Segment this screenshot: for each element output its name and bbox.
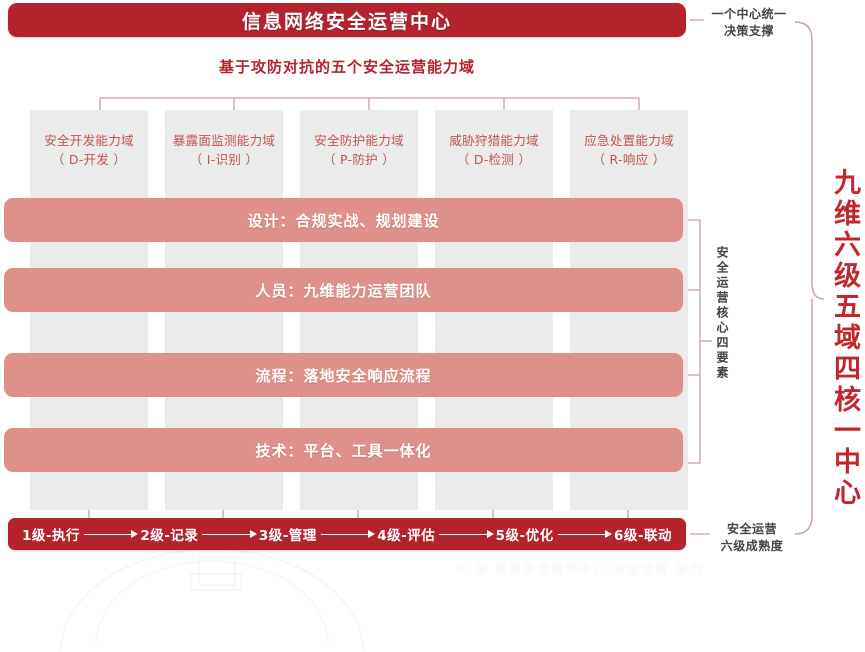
outer-bracket-upper — [795, 22, 824, 299]
core-element-label-design: 设计：合规实战、规划建设 — [247, 210, 439, 231]
capability-column-4-label: 威胁狩猎能力域 （ D-检测 ） — [435, 132, 553, 170]
maturity-arrow-3 — [319, 529, 375, 539]
watermark-arc-inner — [95, 560, 329, 644]
capability-column-5-code: （ R-响应 ） — [570, 151, 688, 170]
annotation-bottom-right-line2: 六级成熟度 — [712, 538, 792, 555]
annotation-bottom-right-line1: 安全运营 — [712, 521, 792, 538]
subtitle: 基于攻防对抗的五个安全运营能力域 — [8, 56, 686, 77]
main-title-bar: 信息网络安全运营中心 — [8, 3, 686, 37]
capability-column-5-name: 应急处置能力域 — [584, 133, 674, 148]
core-element-label-people: 人员：九维能力运营团队 — [255, 280, 431, 301]
core-element-bar-people[interactable]: 人员：九维能力运营团队 — [4, 268, 683, 312]
capability-column-2-name: 暴露面监测能力域 — [173, 133, 275, 148]
capability-column-1-code: （ D-开发 ） — [30, 151, 148, 170]
maturity-level-4[interactable]: 4级-评估 — [377, 524, 435, 544]
watermark-box — [198, 556, 236, 586]
core-element-bar-process[interactable]: 流程：落地安全响应流程 — [4, 353, 683, 397]
maturity-level-1[interactable]: 1级-执行 — [22, 524, 80, 544]
maturity-level-6[interactable]: 6级-联动 — [614, 524, 672, 544]
framework-vertical-title: 九维六级五域四核一中心 — [822, 168, 858, 509]
maturity-arrow-5 — [556, 529, 612, 539]
maturity-bar: 1级-执行 2级-记录 3级-管理 4级-评估 5级-优化 6级-联动 — [8, 518, 686, 550]
capability-column-5-label: 应急处置能力域 （ R-响应 ） — [570, 132, 688, 170]
outer-bracket-lower — [795, 299, 812, 534]
maturity-level-5[interactable]: 5级-优化 — [496, 524, 554, 544]
annotation-top-right: 一个中心统一 决策支撑 — [706, 6, 792, 41]
maturity-arrow-1 — [82, 529, 138, 539]
core-element-label-process: 流程：落地安全响应流程 — [255, 365, 431, 386]
core-element-bar-technology[interactable]: 技术：平台、工具一体化 — [4, 428, 683, 472]
watermark-text: 中 国 信息安全测评中心 安全运营 能力 — [455, 560, 704, 577]
capability-column-2-label: 暴露面监测能力域 （ I-识别 ） — [165, 132, 283, 170]
watermark-arc — [60, 548, 364, 652]
diagram-canvas: 中 国 信息安全测评中心 安全运营 能力 — [0, 0, 865, 598]
core-elements-bracket — [686, 220, 700, 463]
maturity-level-2[interactable]: 2级-记录 — [140, 524, 198, 544]
maturity-arrow-2 — [200, 529, 256, 539]
capability-column-3-code: （ P-防护 ） — [300, 151, 418, 170]
core-element-bar-design[interactable]: 设计：合规实战、规划建设 — [4, 198, 683, 242]
page-title: 信息网络安全运营中心 — [242, 7, 452, 34]
capability-column-4-code: （ D-检测 ） — [435, 151, 553, 170]
core-element-label-technology: 技术：平台、工具一体化 — [255, 440, 431, 461]
capability-column-1-label: 安全开发能力域 （ D-开发 ） — [30, 132, 148, 170]
capability-column-4-name: 威胁狩猎能力域 — [449, 133, 539, 148]
annotation-top-right-line1: 一个中心统一 — [706, 6, 792, 23]
maturity-arrow-4 — [437, 529, 493, 539]
capability-column-1-name: 安全开发能力域 — [44, 133, 134, 148]
maturity-level-3[interactable]: 3级-管理 — [259, 524, 317, 544]
capability-column-3-label: 安全防护能力域 （ P-防护 ） — [300, 132, 418, 170]
watermark-box-lower — [190, 573, 242, 591]
capability-column-3-name: 安全防护能力域 — [314, 133, 404, 148]
annotation-core-elements: 安全运营核心四要素 — [710, 246, 728, 381]
annotation-top-right-line2: 决策支撑 — [706, 23, 792, 40]
annotation-bottom-right: 安全运营 六级成熟度 — [712, 521, 792, 556]
capability-column-2-code: （ I-识别 ） — [165, 151, 283, 170]
